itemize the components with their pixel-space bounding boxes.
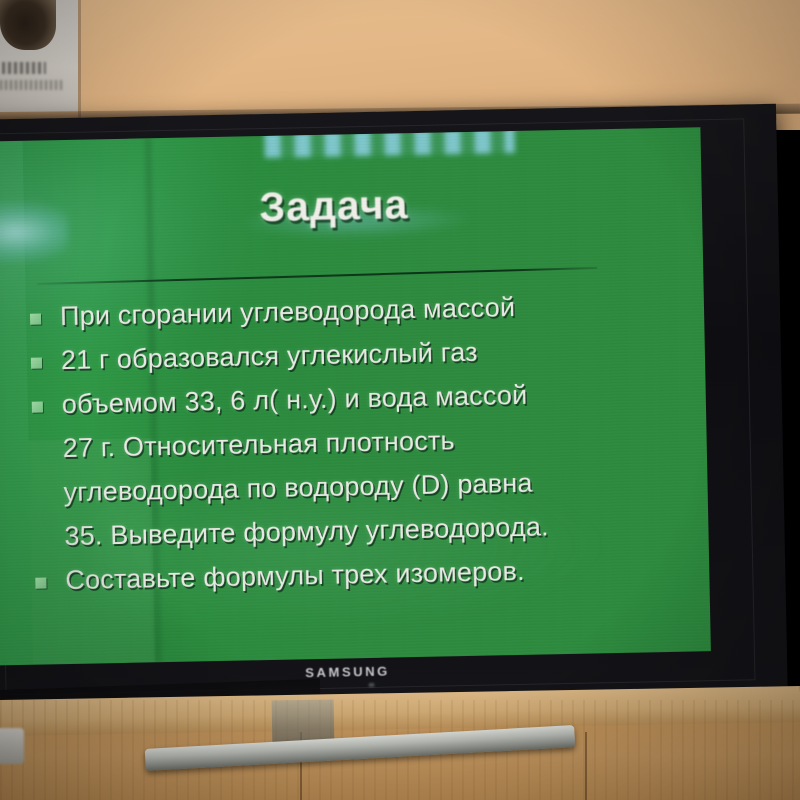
screen-glare-top-strip <box>264 127 514 158</box>
list-item: 27 г. Относительная плотность <box>32 418 673 469</box>
bullet-square-icon <box>35 577 46 588</box>
television-set: Задача При сгорании углеводорода массой … <box>0 104 788 720</box>
list-item-text: Составьте формулы трех изомеров. <box>65 553 525 599</box>
bullet-square-icon <box>32 402 43 413</box>
cabinet-door-seam <box>585 732 587 800</box>
bullet-square-icon <box>30 314 41 325</box>
power-led-indicator <box>368 683 374 687</box>
list-item-text: При сгорании углеводорода массой <box>60 289 516 335</box>
small-object-on-cabinet <box>0 728 24 764</box>
list-item-text: 27 г. Относительная плотность <box>62 422 455 467</box>
classroom-photo-scene: Задача При сгорании углеводорода массой … <box>0 0 800 800</box>
list-item: углеводорода по водороду (D) равна <box>33 462 674 513</box>
tv-screen: Задача При сгорании углеводорода массой … <box>0 127 711 666</box>
bullet-square-icon <box>31 358 42 369</box>
wall-seam-divider <box>78 0 81 118</box>
list-item-text: 21 г образовался углекислый газ <box>61 334 479 379</box>
list-item-text: углеводорода по водороду (D) равна <box>63 465 533 511</box>
poster-text-line-1 <box>2 62 46 74</box>
list-item: 21 г образовался углекислый газ <box>31 330 672 381</box>
list-item: Составьте формулы трех изомеров. <box>35 550 676 601</box>
slide-title-divider <box>37 267 597 285</box>
tv-brand-logo: SAMSUNG <box>305 664 390 681</box>
poster-text-line-2 <box>0 80 62 90</box>
slide-title: Задача <box>0 175 702 237</box>
list-item-text: 35. Выведите формулу углеводорода. <box>64 508 549 555</box>
list-item: 35. Выведите формулу углеводорода. <box>34 506 675 557</box>
list-item-text: объемом 33, 6 л( н.у.) и вода массой <box>61 377 527 423</box>
poster-portrait-image <box>0 0 56 50</box>
slide-bullet-list: При сгорании углеводорода массой 21 г об… <box>30 286 676 607</box>
list-item: При сгорании углеводорода массой <box>30 286 671 337</box>
list-item: объемом 33, 6 л( н.у.) и вода массой <box>31 374 672 425</box>
